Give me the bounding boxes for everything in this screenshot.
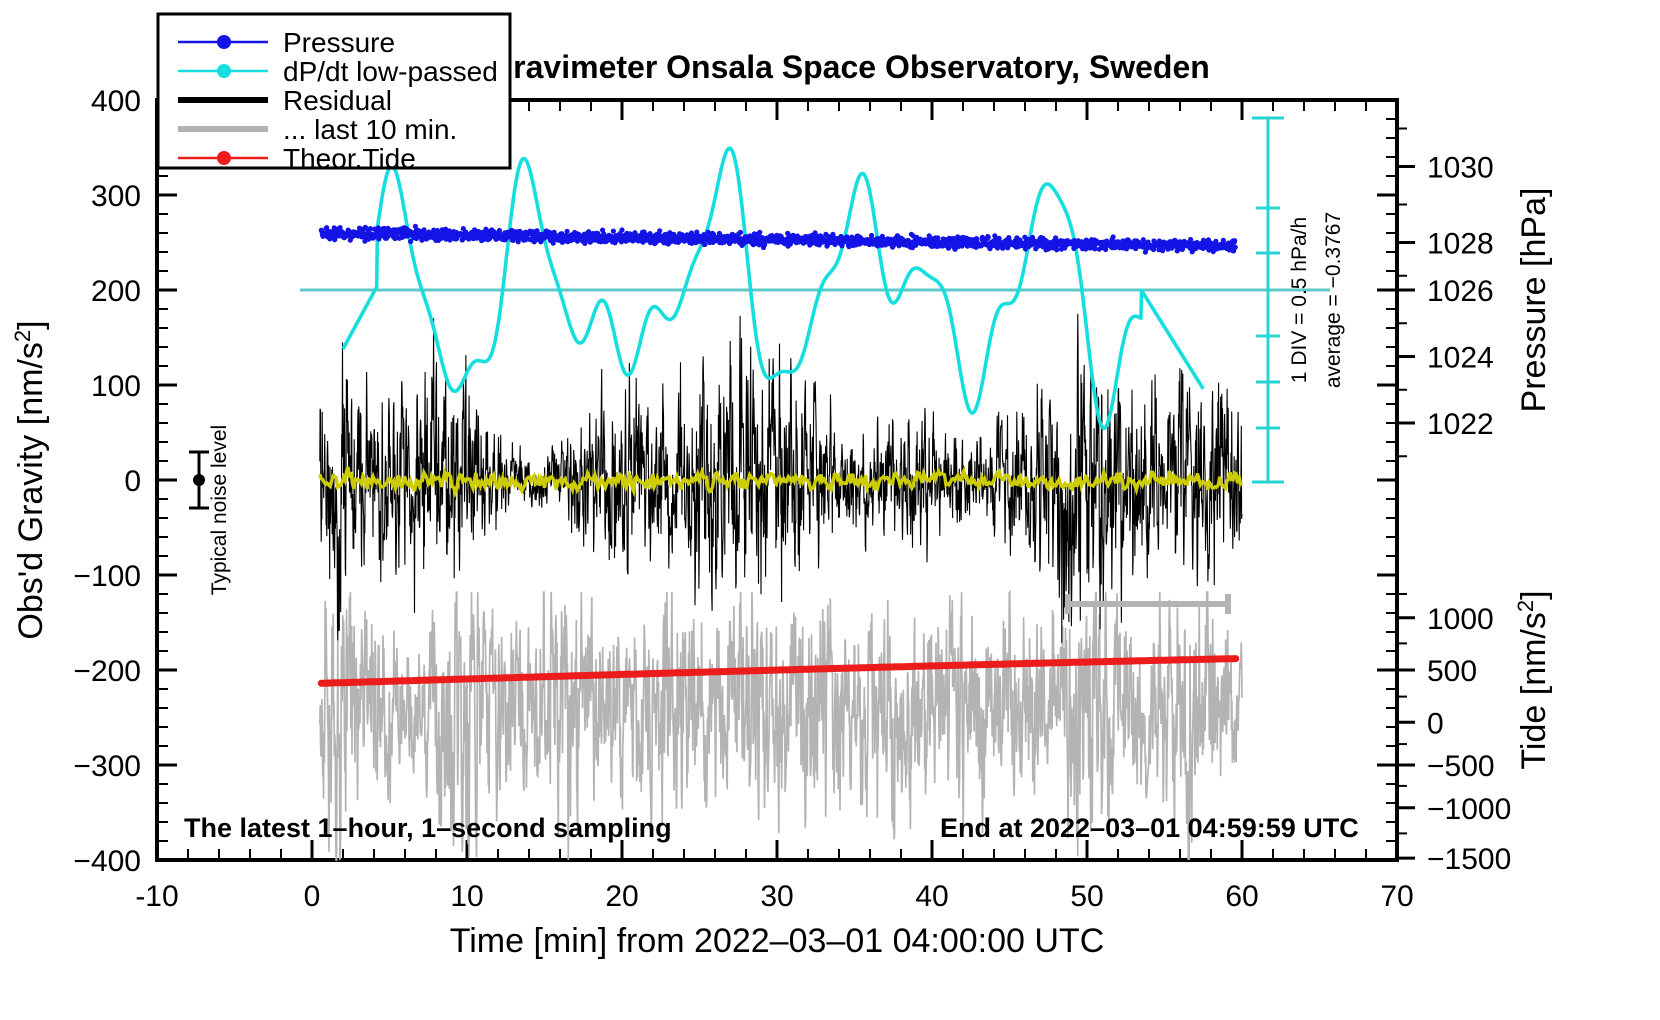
y-axis-left-tick-label: −200 bbox=[73, 655, 141, 688]
footer-left-note: The latest 1–hour, 1–second sampling bbox=[184, 813, 672, 843]
y-axis-left-tick-label: 200 bbox=[91, 275, 141, 308]
x-axis-tick-label: 20 bbox=[605, 880, 638, 913]
y-axis-tide-tick-label: 0 bbox=[1427, 707, 1444, 740]
y-axis-left-tick-label: −300 bbox=[73, 750, 141, 783]
pressure-point bbox=[738, 230, 743, 235]
scalebar-label-div: 1 DIV = 0.5 hPa/h bbox=[1288, 217, 1311, 383]
y-axis-left-tick-label: 300 bbox=[91, 180, 141, 213]
y-axis-tide-title: Tide [nm/s2] bbox=[1513, 590, 1554, 769]
legend: PressuredP/dt low-passedResidual... last… bbox=[158, 14, 510, 174]
x-axis-title: Time [min] from 2022–03–01 04:00:00 UTC bbox=[450, 922, 1105, 960]
y-axis-pressure-tick-label: 1028 bbox=[1427, 228, 1494, 261]
y-axis-left-tick-label: −100 bbox=[73, 560, 141, 593]
y-axis-left-title: Obs'd Gravity [nm/s2] bbox=[10, 320, 51, 639]
x-axis-tick-label: 10 bbox=[450, 880, 483, 913]
y-axis-pressure-title: Pressure [hPa] bbox=[1515, 188, 1553, 413]
x-axis-tick-label: 60 bbox=[1225, 880, 1258, 913]
pressure-point bbox=[1232, 238, 1237, 243]
pressure-point bbox=[657, 228, 662, 233]
y-axis-tide-tick-label: 1000 bbox=[1427, 603, 1494, 636]
pressure-point bbox=[1233, 245, 1238, 250]
x-axis-tick-label: 30 bbox=[760, 880, 793, 913]
typical-noise-level-label: Typical noise level bbox=[208, 425, 231, 595]
x-axis-tick-label: 50 bbox=[1070, 880, 1103, 913]
pressure-point bbox=[1221, 238, 1226, 243]
chart-page: SCG_054 gravimeter Onsala Space Observat… bbox=[0, 0, 1660, 1020]
y-axis-tide-tick-label: −1500 bbox=[1427, 843, 1511, 876]
legend-item-label: Pressure bbox=[283, 27, 395, 58]
scalebar-label-average: average = −0.3767 bbox=[1322, 212, 1345, 388]
footer-right-note: End at 2022–03–01 04:59:59 UTC bbox=[940, 813, 1359, 843]
legend-swatch-dot bbox=[217, 64, 231, 78]
pressure-point bbox=[869, 233, 874, 238]
pressure-point bbox=[1111, 234, 1116, 239]
y-axis-tide-tick-label: 500 bbox=[1427, 655, 1477, 688]
y-axis-tide-tick-label: −500 bbox=[1427, 750, 1495, 783]
x-axis-tick-label: 40 bbox=[915, 880, 948, 913]
legend-item-label: ... last 10 min. bbox=[283, 114, 457, 145]
pressure-point bbox=[619, 227, 624, 232]
legend-item-label: Theor.Tide bbox=[283, 143, 416, 174]
x-axis-tick-label: 0 bbox=[304, 880, 321, 913]
pressure-point bbox=[757, 230, 762, 235]
pressure-point bbox=[702, 242, 707, 247]
y-axis-left-tick-label: 100 bbox=[91, 370, 141, 403]
x-axis-tick-label: 70 bbox=[1380, 880, 1413, 913]
y-axis-pressure-tick-label: 1026 bbox=[1427, 275, 1494, 308]
y-axis-left-tick-label: 400 bbox=[91, 85, 141, 118]
y-axis-pressure-tick-label: 1022 bbox=[1427, 408, 1494, 441]
gravimeter-timeseries-chart: SCG_054 gravimeter Onsala Space Observat… bbox=[0, 0, 1660, 1020]
y-axis-left-tick-label: −400 bbox=[73, 845, 141, 878]
x-axis-tick-label: -10 bbox=[135, 880, 178, 913]
legend-item-label: dP/dt low-passed bbox=[283, 56, 498, 87]
y-axis-left-tick-label: 0 bbox=[124, 465, 141, 498]
y-axis-pressure-tick-label: 1024 bbox=[1427, 342, 1494, 375]
legend-swatch-dot bbox=[217, 35, 231, 49]
legend-swatch-dot bbox=[217, 151, 231, 165]
y-axis-tide-tick-label: −1000 bbox=[1427, 793, 1511, 826]
legend-item-label: Residual bbox=[283, 85, 392, 116]
pressure-point bbox=[565, 229, 570, 234]
pressure-point bbox=[986, 235, 991, 240]
pressure-point bbox=[611, 229, 616, 234]
y-axis-pressure-tick-label: 1030 bbox=[1427, 152, 1494, 185]
